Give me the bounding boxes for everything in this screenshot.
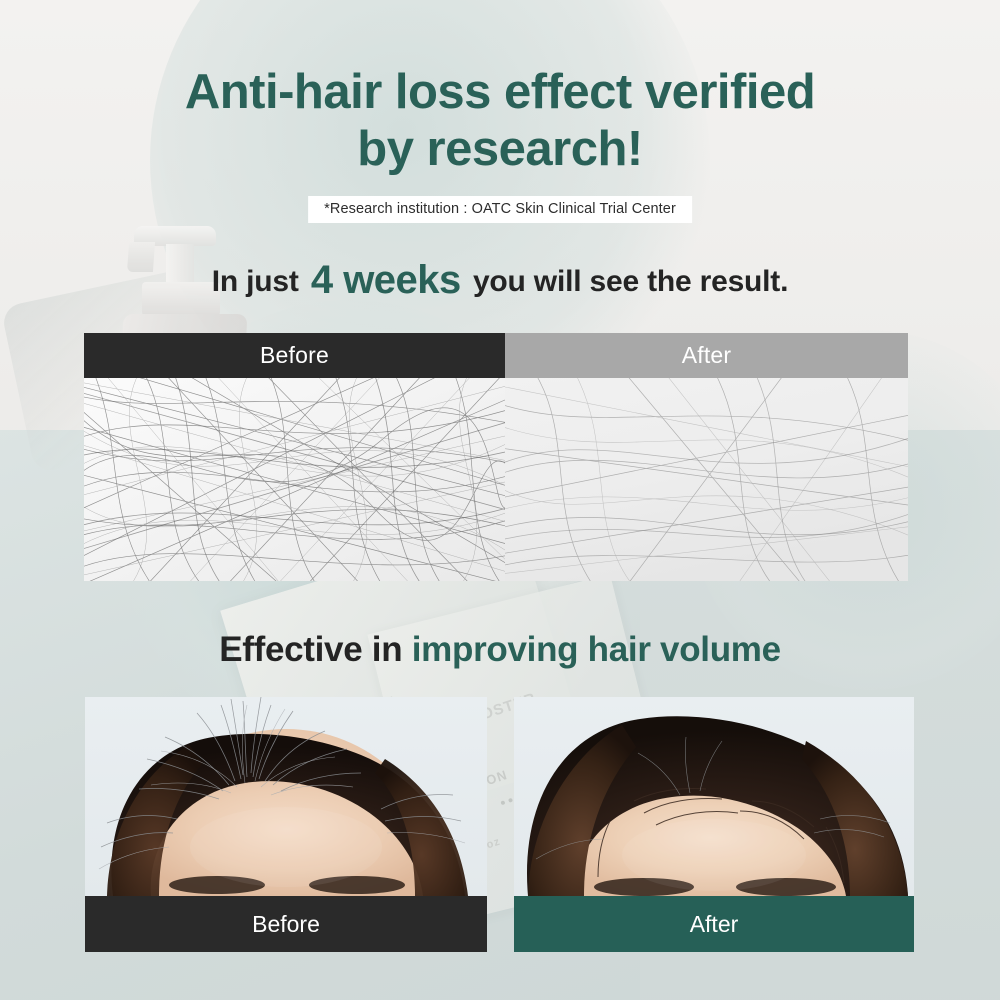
subheadline-duration: 4 weeks xyxy=(307,258,465,302)
hair-strands-sparse-icon xyxy=(505,378,908,581)
face-after-illustration-icon xyxy=(514,697,914,896)
comparison-bottom-before: Before xyxy=(85,697,487,952)
hair-shedding-before-photo xyxy=(84,378,505,581)
subheadline: In just 4 weeks you will see the result. xyxy=(0,258,1000,303)
comparison-top-after: After xyxy=(505,333,908,581)
subheadline-prefix: In just xyxy=(212,265,299,298)
comparison-top-before-label: Before xyxy=(84,333,505,378)
comparison-bottom: Before xyxy=(85,697,914,952)
comparison-top: Before xyxy=(84,333,908,581)
section-title-highlight: improving hair volume xyxy=(412,630,781,669)
comparison-bottom-after-label: After xyxy=(514,896,914,952)
research-institution-note: *Research institution : OATC Skin Clinic… xyxy=(308,196,692,223)
section-title-prefix: Effective in xyxy=(219,630,402,669)
hair-volume-after-photo xyxy=(514,697,914,896)
page-title: Anti-hair loss effect verified by resear… xyxy=(0,64,1000,178)
comparison-top-before: Before xyxy=(84,333,505,581)
hair-strands-dense-icon xyxy=(84,378,505,581)
face-before-illustration-icon xyxy=(85,697,487,896)
hair-volume-before-photo xyxy=(85,697,487,896)
section-title-volume: Effective in improving hair volume xyxy=(0,630,1000,670)
page-title-line2: by research! xyxy=(0,121,1000,178)
hair-shedding-after-photo xyxy=(505,378,908,581)
comparison-top-after-label: After xyxy=(505,333,908,378)
comparison-bottom-after: After xyxy=(514,697,914,952)
subheadline-suffix: you will see the result. xyxy=(473,265,788,298)
promo-page: ion ODDED OOSTER ON fl. oz N Anti-hair l… xyxy=(0,0,1000,1000)
page-title-line1: Anti-hair loss effect verified xyxy=(185,65,815,119)
comparison-bottom-before-label: Before xyxy=(85,896,487,952)
